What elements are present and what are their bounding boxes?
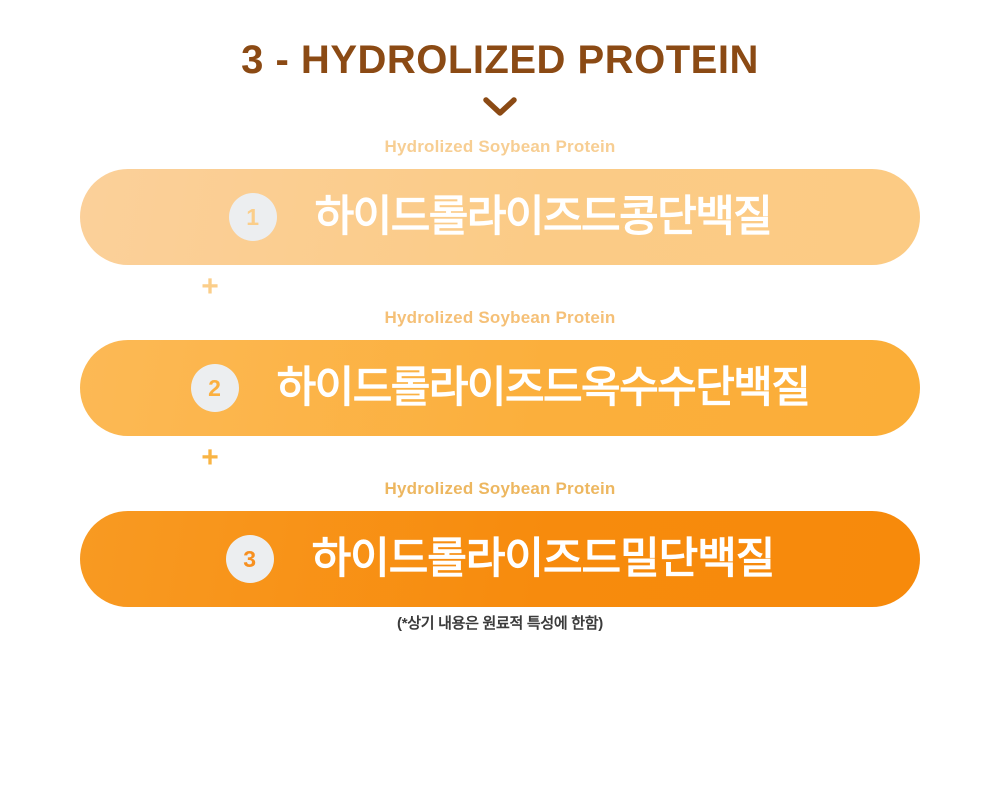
ingredient-group-3: Hydrolized Soybean Protein 3 하이드롤라이즈드밀단백…: [0, 480, 1000, 607]
infographic-page: 3 - HYDROLIZED PROTEIN Hydrolized Soybea…: [0, 0, 1000, 808]
plus-icon: +: [201, 443, 219, 473]
ingredient-pill-3[interactable]: 3 하이드롤라이즈드밀단백질: [80, 511, 920, 607]
ingredient-group-2: Hydrolized Soybean Protein 2 하이드롤라이즈드옥수수…: [0, 309, 1000, 436]
footnote: (*상기 내용은 원료적 특성에 한함): [0, 612, 1000, 633]
ingredient-eng-label-1: Hydrolized Soybean Protein: [0, 138, 1000, 169]
page-title: 3 - HYDROLIZED PROTEIN: [0, 38, 1000, 82]
ingredient-eng-label-2: Hydrolized Soybean Protein: [0, 309, 1000, 340]
plus-icon: +: [201, 272, 219, 302]
ingredient-kor-label-3: 하이드롤라이즈드밀단백질: [312, 538, 775, 581]
ingredient-kor-label-2: 하이드롤라이즈드옥수수단백질: [277, 367, 810, 410]
ingredient-number-badge-2: 2: [191, 364, 239, 412]
ingredient-number-badge-1: 1: [229, 193, 277, 241]
ingredient-number-badge-3: 3: [226, 535, 274, 583]
ingredient-eng-label-3: Hydrolized Soybean Protein: [0, 480, 1000, 511]
separator-row-2: +: [0, 436, 1000, 480]
ingredient-pill-1[interactable]: 1 하이드롤라이즈드콩단백질: [80, 169, 920, 265]
ingredient-group-1: Hydrolized Soybean Protein 1 하이드롤라이즈드콩단백…: [0, 138, 1000, 265]
separator-row-1: +: [0, 265, 1000, 309]
chevron-down-icon: [0, 94, 1000, 120]
ingredient-pill-2[interactable]: 2 하이드롤라이즈드옥수수단백질: [80, 340, 920, 436]
ingredient-list: Hydrolized Soybean Protein 1 하이드롤라이즈드콩단백…: [0, 138, 1000, 607]
header: 3 - HYDROLIZED PROTEIN: [0, 38, 1000, 120]
ingredient-kor-label-1: 하이드롤라이즈드콩단백질: [315, 196, 772, 239]
